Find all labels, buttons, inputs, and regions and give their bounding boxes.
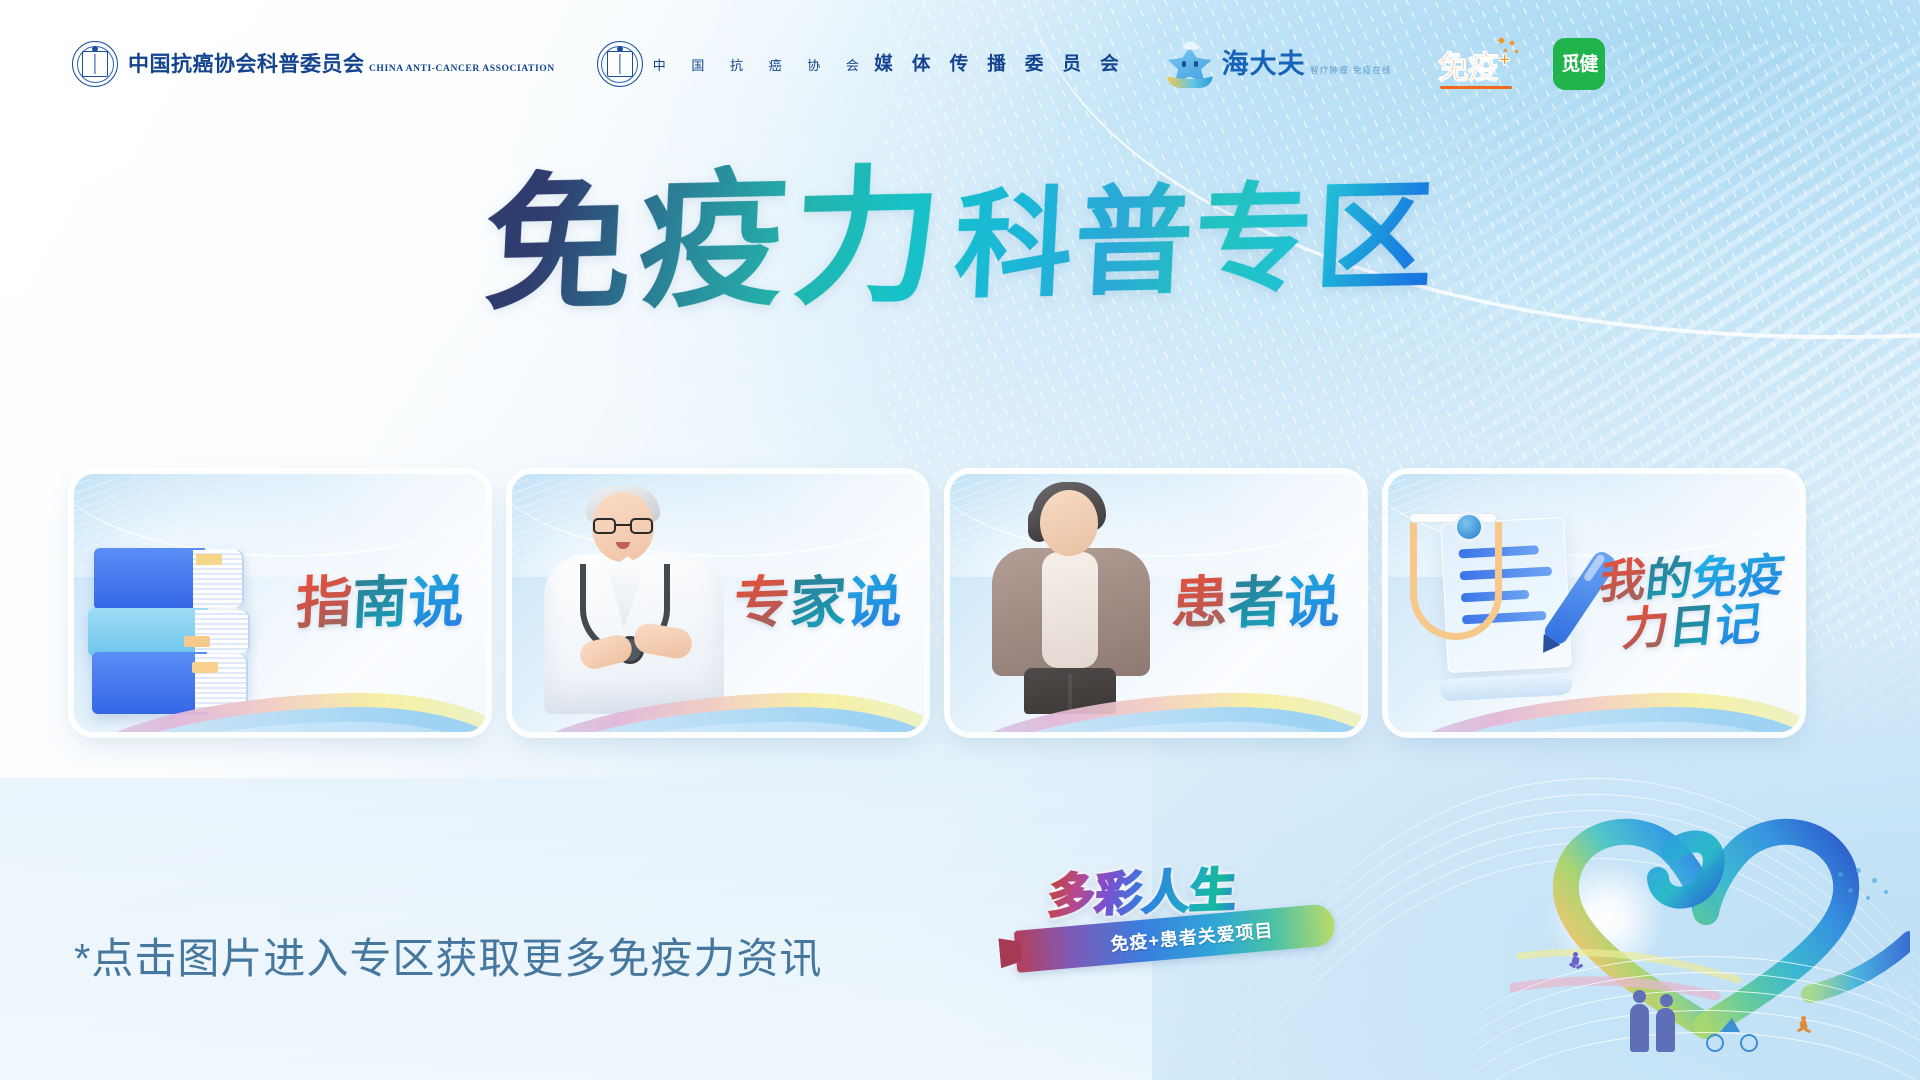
card-immunity-diary-title: 我的免疫 力日记 bbox=[1600, 555, 1784, 651]
logo-immunity-underline bbox=[1440, 86, 1512, 89]
logo-caa-science-committee[interactable]: 中国抗癌协会科普委员会 CHINA ANTI-CANCER ASSOCIATIO… bbox=[72, 41, 555, 87]
logo-haidaifu[interactable]: 海大夫 智疗肿瘤·免疫在线 bbox=[1166, 41, 1392, 87]
footnote-text: *点击图片进入专区获取更多免疫力资讯 bbox=[74, 925, 822, 986]
mijian-badge-icon: 觅健 bbox=[1553, 38, 1605, 90]
card-immunity-diary[interactable]: 我的免疫 力日记 bbox=[1388, 474, 1800, 732]
logo-caa-media-line1: 中 国 抗 癌 协 会 bbox=[653, 58, 870, 73]
partner-logo-bar: 中国抗癌协会科普委员会 CHINA ANTI-CANCER ASSOCIATIO… bbox=[72, 38, 1605, 90]
logo-immunity-plus[interactable]: 免疫+ bbox=[1438, 42, 1510, 87]
logo-caa-media-line2: 媒 体 传 播 委 员 会 bbox=[874, 53, 1125, 74]
sparkle-icon bbox=[1497, 38, 1523, 60]
caa-seal-icon bbox=[72, 41, 118, 87]
track-lines bbox=[1470, 946, 1920, 1080]
hero-title-block: 免疫力科普专区 bbox=[0, 160, 1920, 311]
logo-caa-media-committee[interactable]: 中 国 抗 癌 协 会 媒 体 传 播 委 员 会 bbox=[597, 41, 1126, 87]
card-guideline-title: 指南说 bbox=[296, 574, 464, 632]
caa-seal-icon bbox=[597, 41, 643, 87]
card-patient[interactable]: 患者说 bbox=[950, 474, 1362, 732]
couple-figures-icon bbox=[1630, 990, 1684, 1062]
feature-card-grid: 指南说 专家说 患者说 bbox=[74, 474, 1800, 732]
logo-mijian-cn: 觅健 bbox=[1561, 55, 1597, 74]
card-patient-title: 患者说 bbox=[1172, 574, 1340, 632]
card-expert[interactable]: 专家说 bbox=[512, 474, 924, 732]
logo-caa-science-cn: 中国抗癌协会科普委员会 bbox=[128, 53, 365, 76]
cyclist-icon bbox=[1706, 1018, 1758, 1052]
logo-caa-science-en: CHINA ANTI-CANCER ASSOCIATION bbox=[369, 63, 555, 74]
rainbow-ribbon-heart-icon bbox=[1510, 780, 1910, 1080]
logo-haidaifu-cn: 海大夫 bbox=[1222, 49, 1306, 79]
card-expert-title: 专家说 bbox=[734, 574, 902, 632]
page-title: 免疫力科普专区 bbox=[481, 150, 1440, 321]
runner-figure-icon bbox=[1568, 952, 1584, 972]
brand-duocai-rensheng: 多彩人生 免疫+患者关爱项目 bbox=[1015, 855, 1345, 985]
page-title-main: 免疫力 bbox=[480, 148, 951, 332]
sparkle-dots-icon bbox=[1832, 868, 1892, 914]
star-mascot-icon bbox=[1166, 41, 1214, 87]
page-title-sub: 科普专区 bbox=[951, 166, 1438, 315]
logo-immunity-cn: 免疫 bbox=[1438, 50, 1498, 85]
logo-haidaifu-sub: 智疗肿瘤·免疫在线 bbox=[1310, 65, 1392, 75]
logo-mijian[interactable]: 觅健 bbox=[1553, 38, 1605, 90]
card-guideline[interactable]: 指南说 bbox=[74, 474, 486, 732]
runner-figure-secondary-icon bbox=[1796, 1016, 1812, 1036]
